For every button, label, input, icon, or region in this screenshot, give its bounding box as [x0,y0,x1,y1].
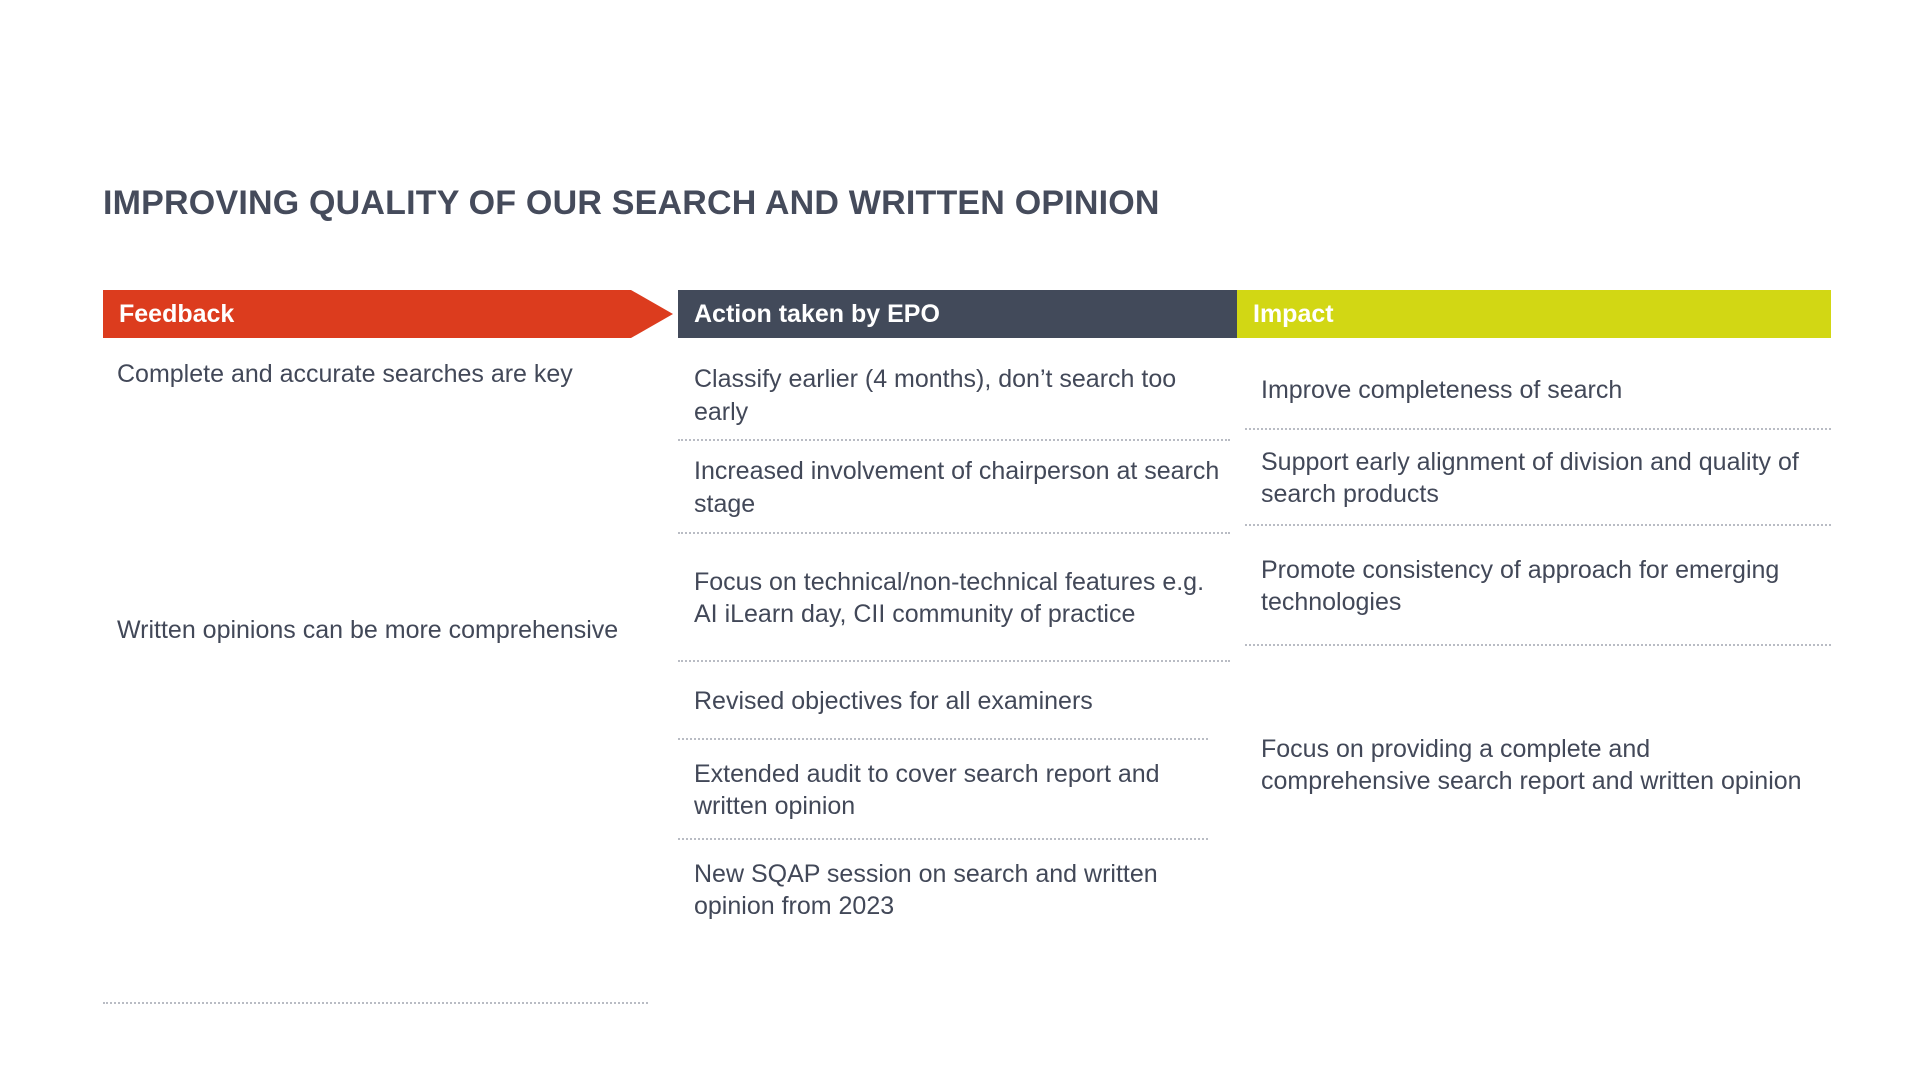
action-item-text: New SQAP session on search and written o… [694,858,1224,923]
column-impact: Improve completeness of search Support e… [1245,350,1831,884]
impact-item-text: Improve completeness of search [1261,374,1825,407]
header-impact: Impact [1237,290,1831,338]
column-action-taken-by-epo: Classify earlier (4 months), don’t searc… [678,350,1230,940]
action-item: Focus on technical/non-technical feature… [678,534,1230,662]
header-feedback-label: Feedback [103,300,234,329]
column-headers: Feedback Action taken by EPO Impact [103,290,1831,338]
impact-item: Support early alignment of division and … [1245,430,1831,526]
feedback-item-text: Written opinions can be more comprehensi… [117,614,638,647]
action-item: Revised objectives for all examiners [678,662,1230,740]
action-item-text: Increased involvement of chairperson at … [694,455,1224,520]
header-impact-label: Impact [1237,300,1334,329]
impact-item-text: Support early alignment of division and … [1261,446,1825,511]
feedback-item: Written opinions can be more comprehensi… [103,602,648,902]
action-item: Extended audit to cover search report an… [678,740,1230,840]
action-item-text: Focus on technical/non-technical feature… [694,566,1224,631]
header-feedback: Feedback [103,290,673,338]
action-item: Classify earlier (4 months), don’t searc… [678,350,1230,441]
feedback-item-text: Complete and accurate searches are key [117,358,638,391]
action-item: New SQAP session on search and written o… [678,840,1230,940]
impact-item: Improve completeness of search [1245,350,1831,430]
header-action-label: Action taken by EPO [678,300,940,329]
impact-item-text: Promote consistency of approach for emer… [1261,554,1825,619]
action-item: Increased involvement of chairperson at … [678,441,1230,534]
feedback-divider [103,1002,648,1004]
action-item-text: Classify earlier (4 months), don’t searc… [694,363,1224,428]
feedback-item: Complete and accurate searches are key [103,350,648,602]
impact-item-text: Focus on providing a complete and compre… [1261,733,1825,798]
impact-item: Promote consistency of approach for emer… [1245,526,1831,646]
page-title: IMPROVING QUALITY OF OUR SEARCH AND WRIT… [103,184,1160,223]
action-item-text: Extended audit to cover search report an… [694,758,1224,823]
impact-item: Focus on providing a complete and compre… [1245,646,1831,884]
column-feedback: Complete and accurate searches are key W… [103,350,648,902]
header-action-taken-by-epo: Action taken by EPO [678,290,1333,338]
action-item-text: Revised objectives for all examiners [694,685,1224,718]
